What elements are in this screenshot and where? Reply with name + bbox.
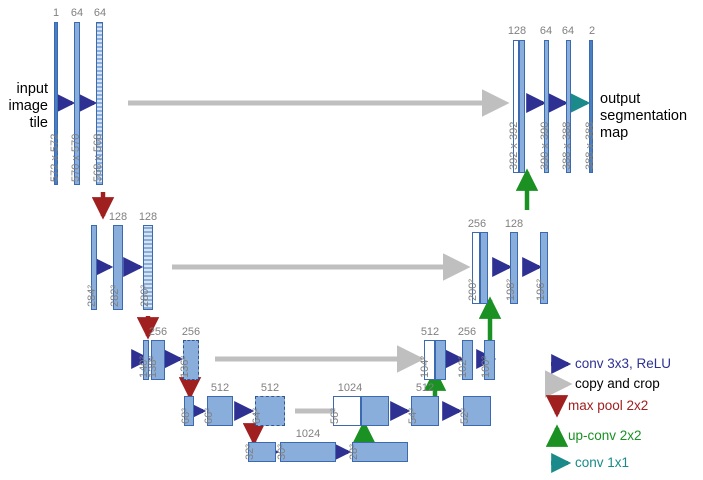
output-label-line1: output <box>600 91 640 108</box>
output-label-line3: map <box>600 125 628 142</box>
size-label-l5-s2: 30² <box>277 444 288 460</box>
size-label-l1r-s1: 392 x 392 <box>509 122 520 170</box>
block-l2r-up <box>480 232 488 304</box>
channel-label-l1-c3: 64 <box>88 8 112 19</box>
size-label-l4r-s1: 56² <box>330 408 341 424</box>
channel-label-l3r-c1: 512 <box>416 327 444 338</box>
size-label-l1-s3: 568 x 568 <box>93 134 104 182</box>
input-label-line2: image <box>0 98 48 115</box>
channel-label-l5-c: 1024 <box>290 429 326 440</box>
block-l3r-up <box>435 340 446 380</box>
legend-item-maxpool: max pool 2x2 <box>568 398 648 413</box>
legend-item-conv3x3: conv 3x3, ReLU <box>575 356 671 371</box>
size-label-l4r-s3: 52² <box>460 408 471 424</box>
channel-label-l2r-c1: 256 <box>464 219 490 230</box>
size-label-l4-s1: 68² <box>181 408 192 424</box>
channel-label-l1r-c2: 64 <box>534 26 558 37</box>
channel-label-l4r-c2: 512 <box>411 383 439 394</box>
size-label-l1-s2: 570 x 570 <box>71 134 82 182</box>
channel-label-l4-c3: 512 <box>256 383 284 394</box>
channel-label-l1r-c1: 128 <box>504 26 530 37</box>
size-label-l2r-s1: 200² <box>468 279 479 301</box>
size-label-l2-s1: 284² <box>87 285 98 307</box>
size-label-l4-s2: 66² <box>204 408 215 424</box>
size-label-l3-s3: 136² <box>180 356 191 378</box>
size-label-l2r-s3: 196² <box>536 279 547 301</box>
channel-label-l3r-c2: 256 <box>453 327 481 338</box>
size-label-l3r-s3: 100² <box>481 356 492 378</box>
channel-label-l3-c2: 256 <box>144 327 172 338</box>
channel-label-l2-c2: 128 <box>104 212 132 223</box>
channel-label-l2-c3: 128 <box>134 212 162 223</box>
channel-label-l2r-c2: 128 <box>500 219 528 230</box>
input-label-line1: input <box>0 81 48 98</box>
size-label-l3-s2: 138² <box>148 356 159 378</box>
channel-label-l1r-c4: 2 <box>580 26 604 37</box>
channel-label-l4r-c1: 1024 <box>333 383 367 394</box>
block-l4r-up <box>361 396 389 426</box>
size-label-l1-s1: 572 x 572 <box>50 134 61 182</box>
channel-label-l1-c2: 64 <box>65 8 89 19</box>
size-label-l5-s1: 32² <box>245 444 256 460</box>
size-label-l1r-s3: 388 x 388 <box>562 122 573 170</box>
legend-item-conv1x1: conv 1x1 <box>575 455 629 470</box>
size-label-l1r-s4: 388 x 388 <box>585 122 596 170</box>
output-label-line2: segmentation <box>600 108 687 125</box>
size-label-l1r-s2: 390 x 390 <box>540 122 551 170</box>
size-label-l4r-s2: 54² <box>408 408 419 424</box>
block-l5-conv2 <box>352 442 408 462</box>
unet-diagram: 1 64 64 572 x 572 570 x 570 568 x 568 in… <box>0 0 703 480</box>
channel-label-l4-c2: 512 <box>206 383 234 394</box>
size-label-l2-s2: 282² <box>110 285 121 307</box>
block-l5-conv1 <box>280 442 336 462</box>
upconv-arrow-group <box>364 172 557 444</box>
input-label-line3: tile <box>0 115 48 132</box>
channel-label-l1r-c3: 64 <box>556 26 580 37</box>
conv-arrow-group <box>57 103 568 452</box>
size-label-l2r-s2: 198² <box>506 279 517 301</box>
legend-item-upconv: up-conv 2x2 <box>568 428 642 443</box>
channel-label-l3-c3: 256 <box>177 327 205 338</box>
size-label-l2-s3: 280² <box>140 285 151 307</box>
size-label-l5-s3: 28² <box>349 444 360 460</box>
size-label-l4-s3: 64² <box>252 408 263 424</box>
size-label-l3r-s1: 104² <box>420 356 431 378</box>
size-label-l3r-s2: 102² <box>458 356 469 378</box>
legend-item-copycrop: copy and crop <box>575 376 660 391</box>
